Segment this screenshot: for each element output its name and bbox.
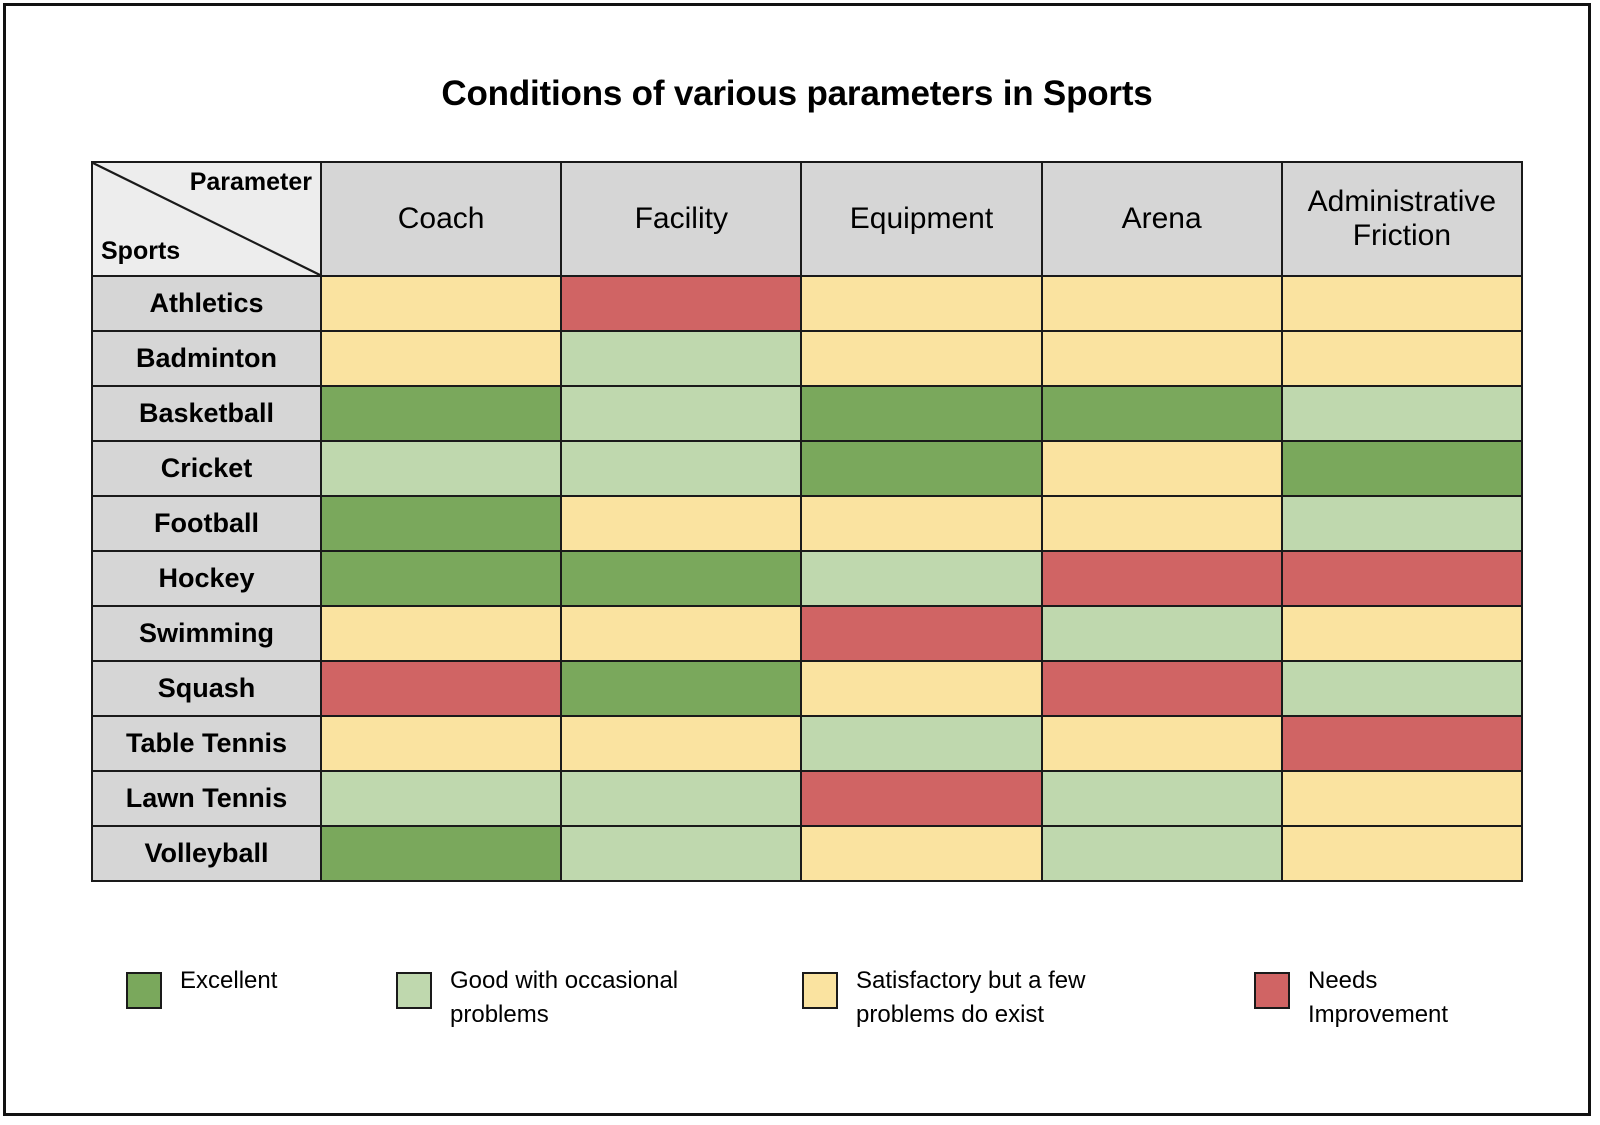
- matrix-cell: [321, 276, 561, 331]
- matrix-cell: [1042, 771, 1282, 826]
- matrix-cell: [1042, 331, 1282, 386]
- corner-axis-cell: Parameter Sports: [92, 162, 321, 276]
- sports-parameters-matrix: Parameter Sports Coach Facility Equipmen…: [91, 161, 1523, 882]
- matrix-cell: [1282, 331, 1522, 386]
- matrix-cell: [561, 716, 801, 771]
- row-header-athletics: Athletics: [92, 276, 321, 331]
- matrix-row: Badminton: [92, 331, 1522, 386]
- matrix-cell: [1282, 551, 1522, 606]
- matrix-cell: [561, 606, 801, 661]
- legend-item-good: Good with occasional problems: [396, 964, 678, 1031]
- matrix-row: Cricket: [92, 441, 1522, 496]
- row-header-hockey: Hockey: [92, 551, 321, 606]
- matrix-cell: [321, 606, 561, 661]
- matrix-row: Hockey: [92, 551, 1522, 606]
- matrix-cell: [321, 771, 561, 826]
- matrix-cell: [1042, 551, 1282, 606]
- row-header-basketball: Basketball: [92, 386, 321, 441]
- matrix-row: Basketball: [92, 386, 1522, 441]
- matrix-cell: [561, 331, 801, 386]
- legend: Excellent Good with occasional problems …: [126, 964, 1526, 1074]
- matrix-cell: [561, 551, 801, 606]
- matrix-cell: [1042, 276, 1282, 331]
- matrix-cell: [1282, 606, 1522, 661]
- legend-label-satisfactory: Satisfactory but a few problems do exist: [856, 964, 1085, 1031]
- matrix-cell: [321, 716, 561, 771]
- legend-swatch-needs-improvement: [1254, 972, 1290, 1009]
- column-header-arena: Arena: [1042, 162, 1282, 276]
- matrix-row: Athletics: [92, 276, 1522, 331]
- row-header-swimming: Swimming: [92, 606, 321, 661]
- matrix-cell: [321, 661, 561, 716]
- legend-label-excellent: Excellent: [180, 964, 277, 998]
- matrix-cell: [801, 661, 1041, 716]
- page-frame: Conditions of various parameters in Spor…: [3, 3, 1591, 1116]
- matrix-cell: [1282, 441, 1522, 496]
- matrix-cell: [1282, 386, 1522, 441]
- matrix-row: Volleyball: [92, 826, 1522, 881]
- row-header-squash: Squash: [92, 661, 321, 716]
- matrix-row: Lawn Tennis: [92, 771, 1522, 826]
- matrix-cell: [1042, 441, 1282, 496]
- corner-parameter-label: Parameter: [190, 169, 312, 197]
- matrix-cell: [801, 606, 1041, 661]
- row-header-badminton: Badminton: [92, 331, 321, 386]
- matrix-cell: [561, 771, 801, 826]
- row-header-volleyball: Volleyball: [92, 826, 321, 881]
- matrix-cell: [561, 661, 801, 716]
- legend-label-good: Good with occasional problems: [450, 964, 678, 1031]
- row-header-cricket: Cricket: [92, 441, 321, 496]
- matrix-cell: [1042, 826, 1282, 881]
- matrix-row: Squash: [92, 661, 1522, 716]
- matrix-row: Football: [92, 496, 1522, 551]
- matrix-cell: [801, 716, 1041, 771]
- legend-swatch-good: [396, 972, 432, 1009]
- matrix-cell: [801, 496, 1041, 551]
- legend-swatch-excellent: [126, 972, 162, 1009]
- matrix-cell: [321, 331, 561, 386]
- matrix-cell: [801, 386, 1041, 441]
- corner-sports-label: Sports: [101, 238, 180, 266]
- matrix-cell: [1042, 661, 1282, 716]
- matrix-cell: [801, 771, 1041, 826]
- legend-swatch-satisfactory: [802, 972, 838, 1009]
- legend-item-needs-improvement: Needs Improvement: [1254, 964, 1448, 1031]
- matrix-cell: [1042, 496, 1282, 551]
- matrix-cell: [1282, 826, 1522, 881]
- matrix-cell: [801, 441, 1041, 496]
- matrix-cell: [801, 551, 1041, 606]
- matrix-cell: [801, 826, 1041, 881]
- matrix-cell: [321, 386, 561, 441]
- matrix-cell: [561, 386, 801, 441]
- matrix-cell: [321, 441, 561, 496]
- matrix-cell: [1042, 606, 1282, 661]
- matrix-cell: [561, 496, 801, 551]
- column-header-coach: Coach: [321, 162, 561, 276]
- matrix-cell: [801, 276, 1041, 331]
- row-header-table-tennis: Table Tennis: [92, 716, 321, 771]
- legend-label-needs-improvement: Needs Improvement: [1308, 964, 1448, 1031]
- matrix-cell: [561, 276, 801, 331]
- legend-item-excellent: Excellent: [126, 964, 277, 1009]
- legend-item-satisfactory: Satisfactory but a few problems do exist: [802, 964, 1085, 1031]
- column-header-administrative-friction: Administrative Friction: [1282, 162, 1522, 276]
- matrix-cell: [321, 551, 561, 606]
- matrix-row: Table Tennis: [92, 716, 1522, 771]
- page-title: Conditions of various parameters in Spor…: [6, 74, 1588, 114]
- matrix-cell: [1042, 716, 1282, 771]
- column-header-facility: Facility: [561, 162, 801, 276]
- matrix-cell: [1282, 661, 1522, 716]
- row-header-football: Football: [92, 496, 321, 551]
- matrix-cell: [1042, 386, 1282, 441]
- matrix-header-row: Parameter Sports Coach Facility Equipmen…: [92, 162, 1522, 276]
- matrix-cell: [801, 331, 1041, 386]
- matrix-cell: [1282, 716, 1522, 771]
- matrix-row: Swimming: [92, 606, 1522, 661]
- matrix-cell: [561, 826, 801, 881]
- column-header-equipment: Equipment: [801, 162, 1041, 276]
- matrix-head: Parameter Sports Coach Facility Equipmen…: [92, 162, 1522, 276]
- matrix-cell: [1282, 496, 1522, 551]
- matrix-cell: [321, 826, 561, 881]
- matrix-cell: [1282, 771, 1522, 826]
- matrix-cell: [561, 441, 801, 496]
- matrix-body: AthleticsBadmintonBasketballCricketFootb…: [92, 276, 1522, 881]
- matrix-cell: [1282, 276, 1522, 331]
- matrix-cell: [321, 496, 561, 551]
- row-header-lawn-tennis: Lawn Tennis: [92, 771, 321, 826]
